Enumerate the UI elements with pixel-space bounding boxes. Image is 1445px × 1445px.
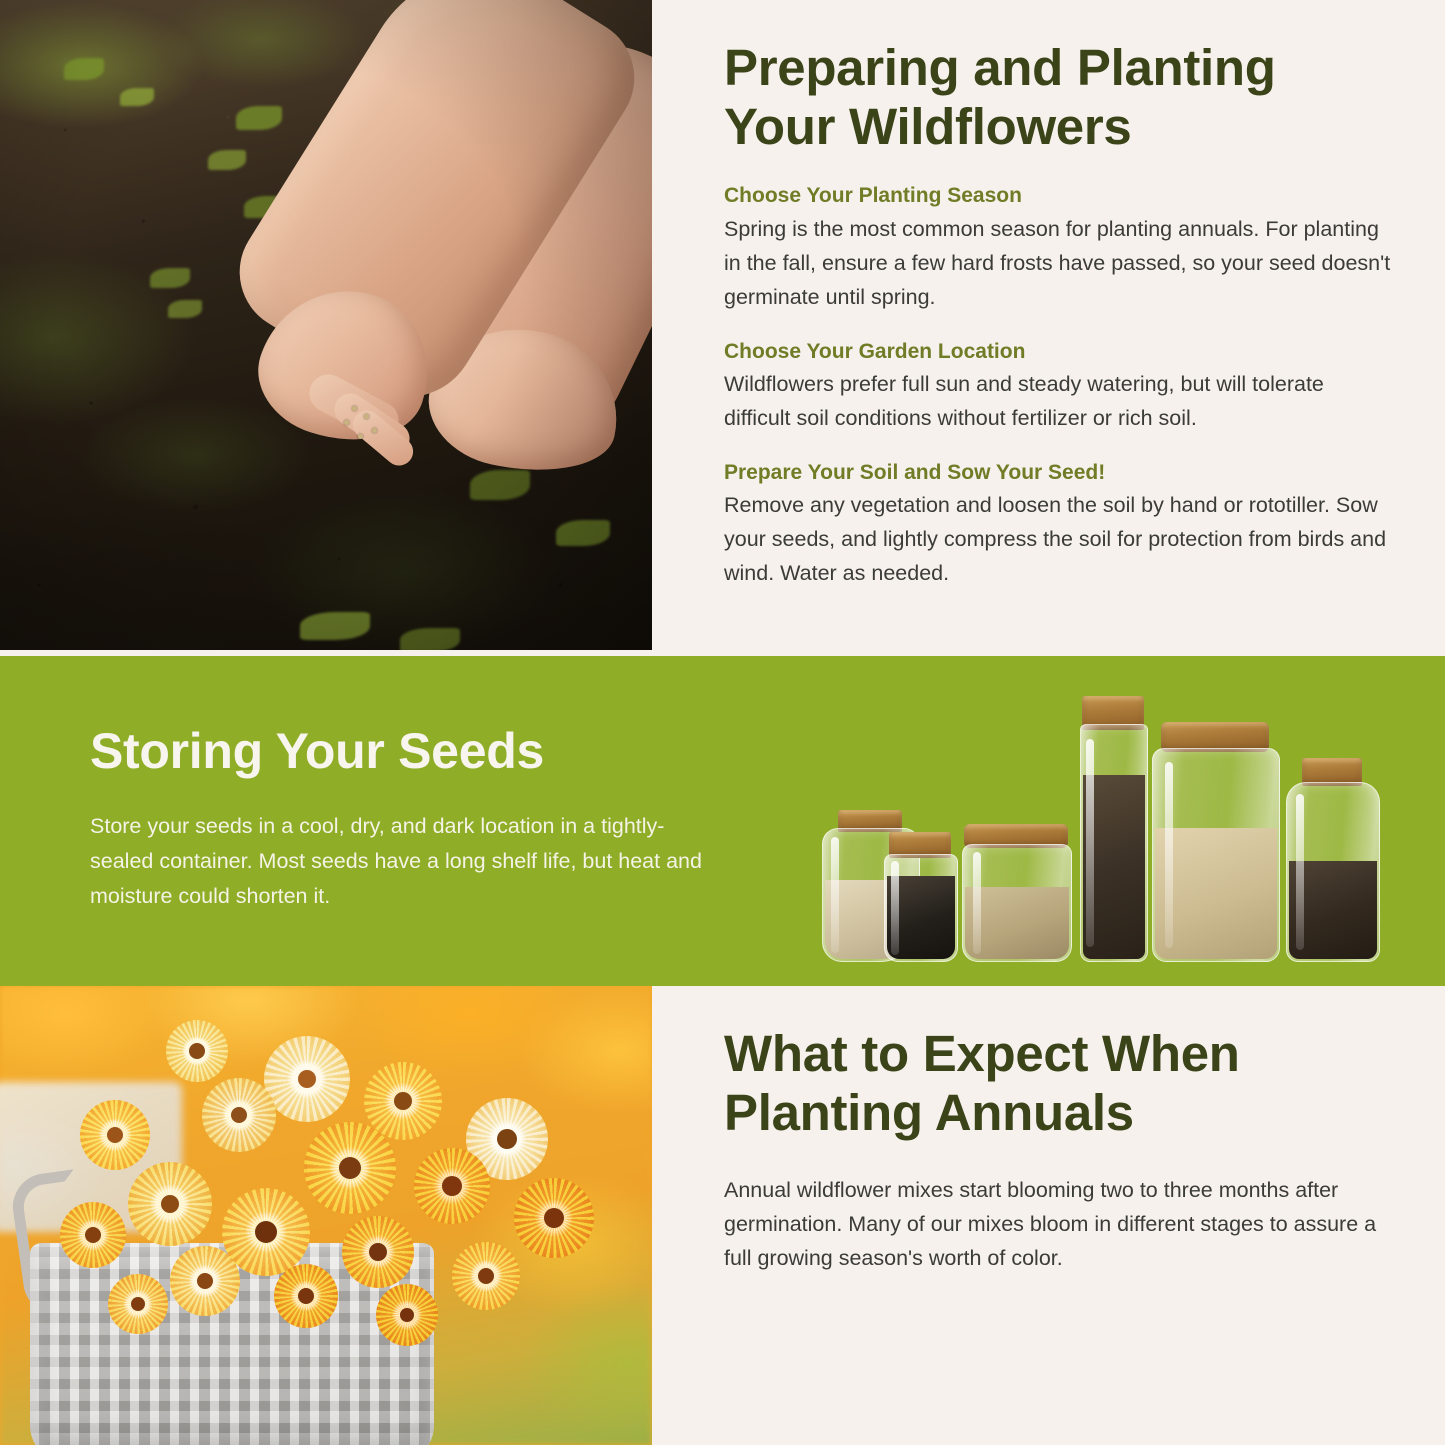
seed-jar [1286, 758, 1378, 962]
seed-jar [1080, 696, 1146, 962]
storing-seeds-title: Storing Your Seeds [90, 724, 715, 779]
flower [514, 1178, 594, 1258]
subsection-body: Spring is the most common season for pla… [724, 213, 1396, 315]
subsection-body: Wildflowers prefer full sun and steady w… [724, 368, 1396, 436]
subsection-heading: Prepare Your Soil and Sow Your Seed! [724, 459, 1396, 486]
flower [80, 1100, 150, 1170]
flower [166, 1020, 228, 1082]
section-green-text: Storing Your Seeds Store your seeds in a… [90, 724, 715, 913]
photo-vignette [0, 0, 652, 650]
seed-jar [884, 832, 956, 962]
section-top-text: Preparing and Planting Your Wildflowers … [724, 38, 1396, 591]
subsection-heading: Choose Your Garden Location [724, 338, 1396, 365]
flower [364, 1062, 442, 1140]
glass-body [1152, 748, 1280, 962]
subsection-heading: Choose Your Planting Season [724, 182, 1396, 209]
flower [60, 1202, 126, 1268]
glass-highlight [973, 852, 981, 954]
glass-body [884, 854, 958, 962]
storing-seeds-body: Store your seeds in a cool, dry, and dar… [90, 809, 715, 913]
seed-fill-pumpkin [1155, 828, 1277, 959]
glass-body [1286, 782, 1380, 962]
flower [342, 1216, 414, 1288]
glass-highlight [831, 837, 839, 953]
flower [414, 1148, 490, 1224]
flower [170, 1246, 240, 1316]
infographic-page: Preparing and Planting Your Wildflowers … [0, 0, 1445, 1445]
section-what-to-expect: What to Expect When Planting Annuals Ann… [0, 986, 1445, 1445]
flower-basket-photo [0, 986, 652, 1445]
flower [128, 1162, 212, 1246]
seed-jar [1152, 722, 1278, 962]
glass-highlight [891, 861, 899, 954]
seed-jars-photo [822, 690, 1382, 962]
soil-planting-photo [0, 0, 652, 650]
what-to-expect-body: Annual wildflower mixes start blooming t… [724, 1174, 1396, 1276]
glass-highlight [1086, 739, 1094, 947]
subsection-body: Remove any vegetation and loosen the soi… [724, 489, 1396, 591]
glass-body [962, 844, 1072, 962]
page-title: Preparing and Planting Your Wildflowers [724, 38, 1396, 156]
subsection-garden-location: Choose Your Garden Location Wildflowers … [724, 338, 1396, 436]
flower [202, 1078, 276, 1152]
subsection-prepare-soil: Prepare Your Soil and Sow Your Seed! Rem… [724, 459, 1396, 591]
glass-highlight [1296, 794, 1304, 951]
flower [452, 1242, 520, 1310]
flower-bouquet [16, 1002, 636, 1332]
section-bottom-text: What to Expect When Planting Annuals Ann… [724, 1024, 1396, 1276]
flower [264, 1036, 350, 1122]
glass-highlight [1165, 762, 1173, 949]
glass-body [1080, 724, 1148, 962]
flower [304, 1122, 396, 1214]
section-preparing-planting: Preparing and Planting Your Wildflowers … [0, 0, 1445, 656]
flower [108, 1274, 168, 1334]
flower [274, 1264, 338, 1328]
what-to-expect-title: What to Expect When Planting Annuals [724, 1024, 1396, 1142]
subsection-planting-season: Choose Your Planting Season Spring is th… [724, 182, 1396, 314]
flower [376, 1284, 438, 1346]
seed-jar [962, 824, 1070, 962]
